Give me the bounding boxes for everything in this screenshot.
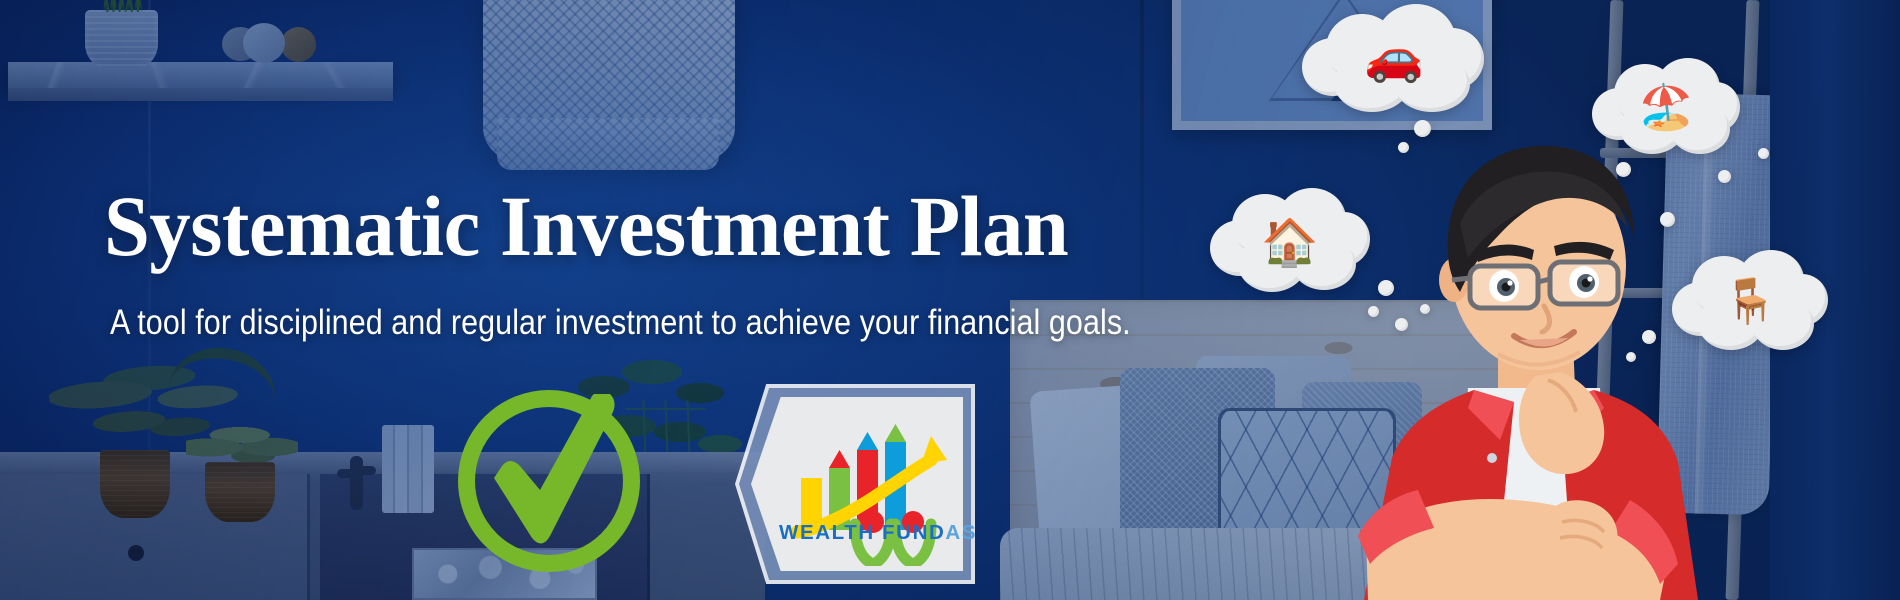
check-tick: [488, 394, 618, 554]
beach-umbrella-icon: 🏖️: [1639, 86, 1694, 130]
rocking-chair-icon: 🪑: [1723, 280, 1778, 324]
house-icon: 🏠: [1261, 219, 1318, 265]
thought-dot: [1758, 148, 1769, 159]
thought-bubble-car: 🚗: [1300, 4, 1488, 116]
logo-wordmark-bold: WEALTH FUND: [779, 521, 945, 544]
car-icon: 🚗: [1364, 34, 1424, 82]
wealth-fundas-logo[interactable]: WEALTH FUNDAS: [735, 384, 975, 584]
thought-bubble-house: 🏠: [1210, 188, 1370, 296]
thought-dot: [1414, 120, 1431, 137]
logo-wordmark: WEALTH FUNDAS: [779, 521, 979, 545]
banner-subheadline: A tool for disciplined and regular inves…: [110, 303, 1131, 343]
thinking-person-illustration: [1348, 140, 1728, 600]
banner-headline: Systematic Investment Plan: [104, 185, 1068, 268]
logo-wordmark-light: AS: [945, 521, 977, 544]
sip-banner: Systematic Investment Plan A tool for di…: [0, 0, 1900, 600]
check-circle-icon: [452, 382, 652, 582]
